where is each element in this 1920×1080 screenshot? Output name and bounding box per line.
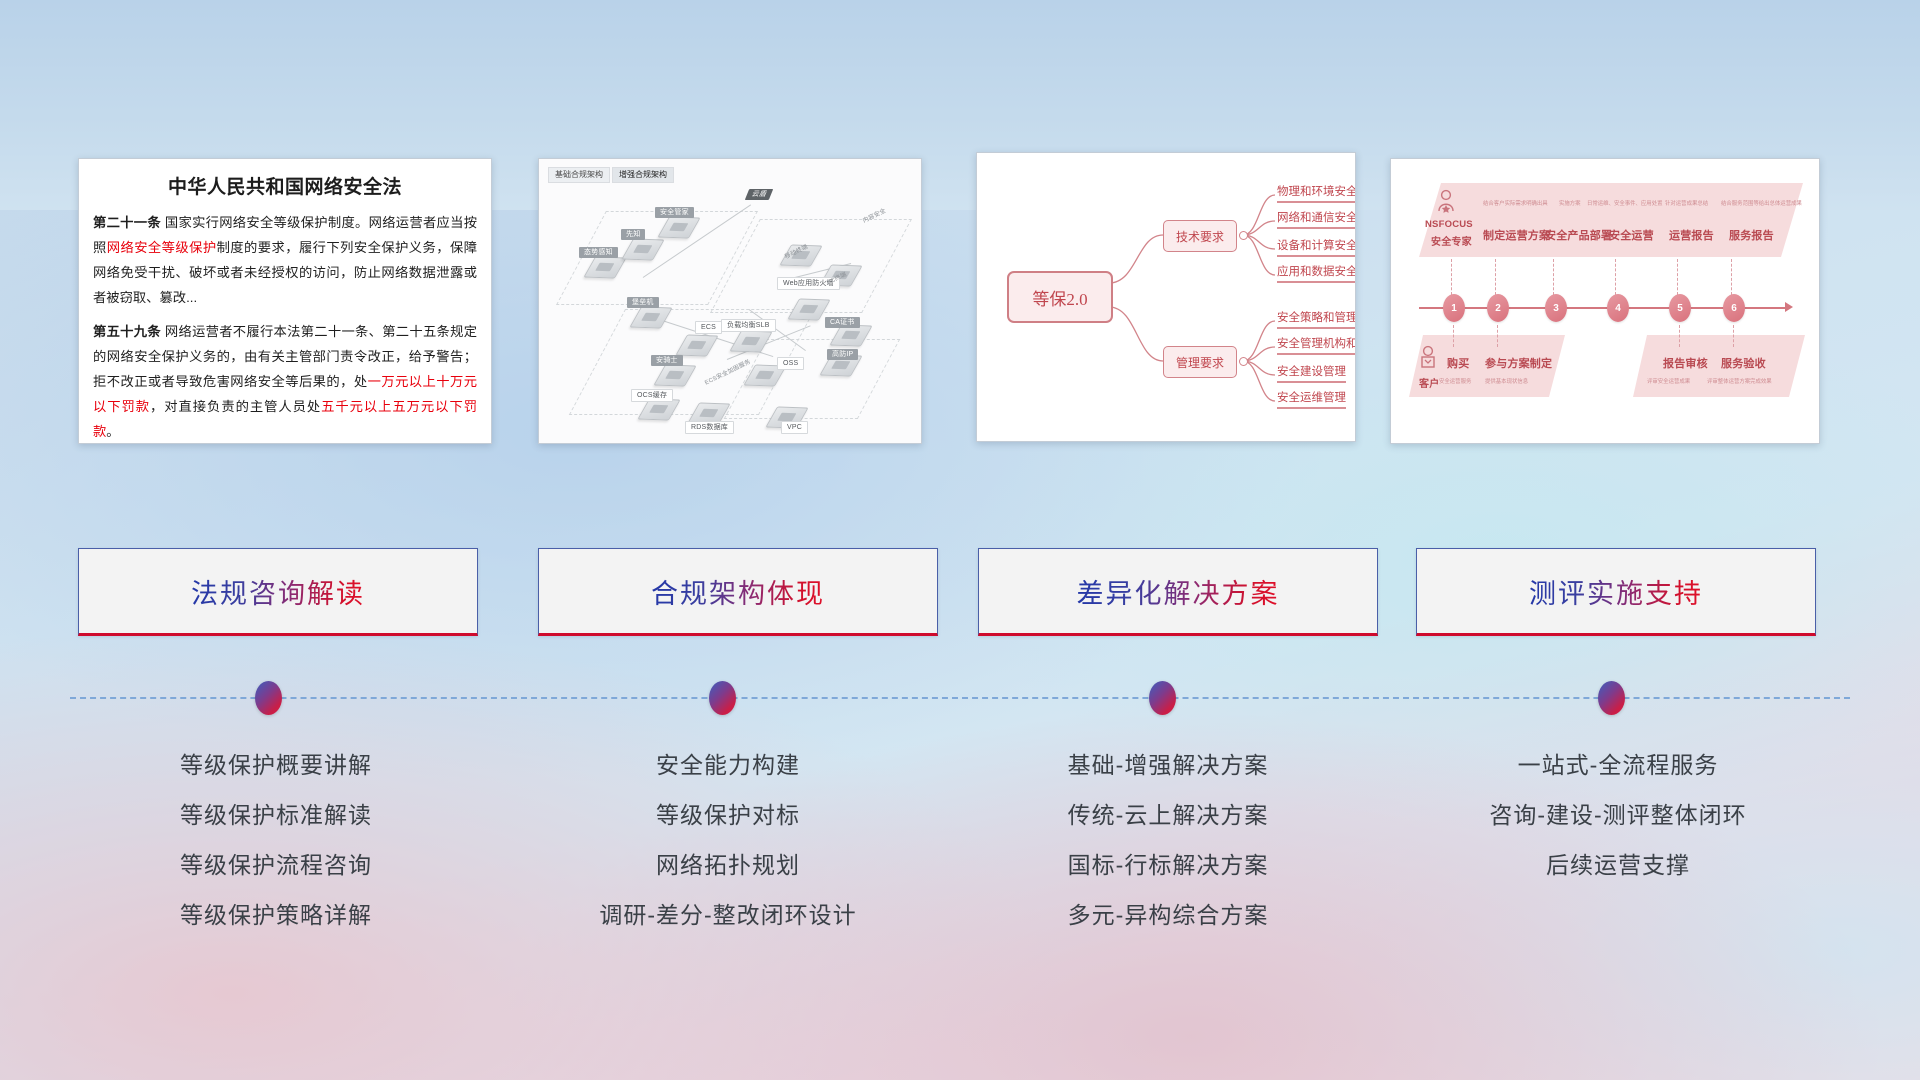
architecture-tabs[interactable]: 基础合规架构 增强合规架构 [548, 167, 674, 183]
mindmap-leaf-org-personnel[interactable]: 安全管理机构和人员 [1277, 335, 1356, 355]
bottom-step-3-sub: 评审安全运营成果 [1647, 377, 1690, 385]
article-59-text-2: ，对直接负责的主管人员处 [150, 399, 321, 414]
timeline-node-4[interactable]: 4 [1607, 294, 1629, 322]
node-label-bastion: 堡垒机 [627, 297, 659, 308]
bottom-step-3-title: 报告审核 [1663, 355, 1708, 371]
list-item: 咨询-建设-测评整体闭环 [1418, 790, 1818, 840]
mindmap-collapse-icon-management[interactable] [1239, 357, 1248, 366]
axis-dot-2 [709, 681, 736, 715]
article-21-label: 第二十一条 [93, 215, 161, 230]
timeline-arrow-icon [1785, 302, 1793, 312]
connector-2 [1495, 259, 1496, 295]
connector-4 [1615, 259, 1616, 295]
card-service-timeline[interactable]: NSFOCUS 安全专家 结合客户实际需求明确出具 制定运营方案 实施方案 安全… [1390, 158, 1820, 444]
expert-person-icon [1435, 189, 1457, 215]
bottom-step-1-sub: 安全运营服务 [1439, 377, 1471, 385]
list-item: 后续运营支撑 [1418, 840, 1818, 890]
timeline-band-bottom-right [1633, 335, 1805, 397]
node-label-situational: 态势感知 [579, 247, 618, 258]
node-label-xianzhi: 先知 [621, 229, 645, 240]
connector-5 [1677, 259, 1678, 295]
list-item: 网络拓扑规划 [528, 840, 928, 890]
bullet-column-2: 安全能力构建 等级保护对标 网络拓扑规划 调研-差分-整改闭环设计 [528, 740, 928, 940]
list-item: 等级保护流程咨询 [76, 840, 476, 890]
bottom-step-2-title: 参与方案制定 [1485, 355, 1552, 371]
top-step-1-title: 制定运营方案 [1483, 227, 1550, 243]
top-step-1-sub: 结合客户实际需求明确出具 [1483, 199, 1548, 207]
connector-b2 [1497, 325, 1498, 347]
node-label-ocs: OCS缓存 [631, 389, 673, 402]
top-step-2-title: 安全产品部署 [1545, 227, 1612, 243]
list-item: 调研-差分-整改闭环设计 [528, 890, 928, 940]
header-assessment-support[interactable]: 测评实施支持 [1416, 548, 1816, 636]
node-label-ecs: ECS [695, 321, 722, 334]
bottom-step-4-sub: 评审整体运营方案完成效果 [1707, 377, 1772, 385]
node-label-rds: RDS数据库 [685, 421, 734, 434]
node-label-slb: 负载均衡SLB [721, 319, 776, 332]
bottom-step-4-title: 服务验收 [1721, 355, 1766, 371]
customer-label: 客户 [1419, 375, 1439, 390]
header-label-4: 测评实施支持 [1529, 572, 1703, 611]
connector-b1 [1453, 325, 1454, 347]
card-dengbao-mindmap[interactable]: 等保2.0 技术要求 管理要求 物理和环境安全 网络和通信安全 设备和计算安全 … [976, 152, 1356, 442]
timeline-node-2[interactable]: 2 [1487, 294, 1509, 322]
article-59-text-3: 。 [106, 424, 119, 439]
architecture-diagram: 基础合规架构 增强合规架构 云盾 态势感知 先知 [539, 159, 921, 443]
card-cybersecurity-law[interactable]: 中华人民共和国网络安全法 第二十一条 国家实行网络安全等级保护制度。网络运营者应… [78, 158, 492, 444]
node-label-yundun: 云盾 [745, 189, 774, 200]
bullet-column-4: 一站式-全流程服务 咨询-建设-测评整体闭环 后续运营支撑 [1418, 740, 1818, 890]
bottom-step-2-sub: 提供基本现状信息 [1485, 377, 1528, 385]
customer-person-icon [1417, 345, 1439, 371]
header-label-1: 法规咨询解读 [191, 572, 365, 611]
law-title: 中华人民共和国网络安全法 [79, 172, 491, 199]
list-item: 传统-云上解决方案 [968, 790, 1368, 840]
connector-3 [1553, 259, 1554, 295]
timeline-node-3[interactable]: 3 [1545, 294, 1567, 322]
list-item: 一站式-全流程服务 [1418, 740, 1818, 790]
node-label-ca: CA证书 [825, 317, 860, 328]
header-regulation-consulting[interactable]: 法规咨询解读 [78, 548, 478, 636]
header-compliance-architecture[interactable]: 合规架构体现 [538, 548, 938, 636]
bullet-column-3: 基础-增强解决方案 传统-云上解决方案 国标-行标解决方案 多元-异构综合方案 [968, 740, 1368, 940]
card-compliance-architecture[interactable]: 基础合规架构 增强合规架构 云盾 态势感知 先知 [538, 158, 922, 444]
expert-label-line2: 安全专家 [1431, 233, 1472, 248]
top-step-3-sub: 日常运维、安全事件、应用处置 [1587, 199, 1662, 207]
law-article-21: 第二十一条 国家实行网络安全等级保护制度。网络运营者应当按照网络安全等级保护制度… [93, 210, 477, 310]
law-article-59: 第五十九条 网络运营者不履行本法第二十一条、第二十五条规定的网络安全保护义务的，… [93, 319, 477, 444]
timeline-band-top [1419, 183, 1803, 257]
header-label-3: 差异化解决方案 [1077, 572, 1280, 611]
connector-6 [1731, 259, 1732, 295]
list-item: 基础-增强解决方案 [968, 740, 1368, 790]
tab-enhanced-architecture[interactable]: 增强合规架构 [612, 167, 674, 183]
mindmap-root-node[interactable]: 等保2.0 [1007, 271, 1113, 323]
mindmap-branch-technical[interactable]: 技术要求 [1163, 220, 1237, 252]
node-label-gaofang: 高防IP [827, 349, 858, 360]
top-step-4-sub: 针对运营成果总结 [1665, 199, 1708, 207]
timeline-node-5[interactable]: 5 [1669, 294, 1691, 322]
list-item: 等级保护策略详解 [76, 890, 476, 940]
mindmap-leaf-physical-env[interactable]: 物理和环境安全 [1277, 183, 1356, 203]
mindmap-leaf-device-compute[interactable]: 设备和计算安全 [1277, 237, 1356, 257]
mindmap-leaf-construction-mgmt[interactable]: 安全建设管理 [1277, 363, 1346, 383]
bullet-column-1: 等级保护概要讲解 等级保护标准解读 等级保护流程咨询 等级保护策略详解 [76, 740, 476, 940]
mindmap-branch-management[interactable]: 管理要求 [1163, 346, 1237, 378]
axis-dot-1 [255, 681, 282, 715]
list-item: 安全能力构建 [528, 740, 928, 790]
bottom-step-1-title: 购买 [1447, 355, 1469, 371]
timeline-canvas: NSFOCUS 安全专家 结合客户实际需求明确出具 制定运营方案 实施方案 安全… [1391, 159, 1819, 443]
mindmap-leaf-ops-mgmt[interactable]: 安全运维管理 [1277, 389, 1346, 409]
node-label-anqishi: 安骑士 [651, 355, 683, 366]
connector-1 [1451, 259, 1452, 295]
connector-b4 [1733, 325, 1734, 347]
axis-dot-3 [1149, 681, 1176, 715]
node-label-vpc: VPC [781, 421, 808, 434]
list-item: 多元-异构综合方案 [968, 890, 1368, 940]
axis-dot-4 [1598, 681, 1625, 715]
header-differentiated-solution[interactable]: 差异化解决方案 [978, 548, 1378, 636]
list-item: 国标-行标解决方案 [968, 840, 1368, 890]
top-step-5-sub: 结合服务范围等给出总体运营成果 [1721, 199, 1802, 207]
mindmap-leaf-app-data[interactable]: 应用和数据安全 [1277, 263, 1356, 283]
list-item: 等级保护标准解读 [76, 790, 476, 840]
mindmap-collapse-icon-technical[interactable] [1239, 231, 1248, 240]
list-item: 等级保护对标 [528, 790, 928, 840]
timeline-node-1[interactable]: 1 [1443, 294, 1465, 322]
timeline-node-6[interactable]: 6 [1723, 294, 1745, 322]
mindmap-canvas: 等保2.0 技术要求 管理要求 物理和环境安全 网络和通信安全 设备和计算安全 … [977, 153, 1355, 441]
mindmap-leaf-policy-system[interactable]: 安全策略和管理制度 [1277, 309, 1356, 329]
article-21-highlight: 网络安全等级保护 [107, 240, 217, 255]
tab-basic-architecture[interactable]: 基础合规架构 [548, 167, 610, 183]
list-item: 等级保护概要讲解 [76, 740, 476, 790]
top-step-4-title: 运营报告 [1669, 227, 1714, 243]
top-step-2-sub: 实施方案 [1559, 199, 1581, 207]
article-59-label: 第五十九条 [93, 324, 161, 339]
top-step-3-title: 安全运营 [1609, 227, 1654, 243]
timeline-dashed-axis [70, 697, 1850, 699]
connector-b3 [1679, 325, 1680, 347]
mindmap-leaf-network-comm[interactable]: 网络和通信安全 [1277, 209, 1356, 229]
header-label-2: 合规架构体现 [651, 572, 825, 611]
top-step-5-title: 服务报告 [1729, 227, 1774, 243]
expert-label-line1: NSFOCUS [1425, 219, 1473, 230]
node-label-oss: OSS [777, 357, 804, 370]
node-label-guanjia: 安全管家 [655, 207, 694, 218]
